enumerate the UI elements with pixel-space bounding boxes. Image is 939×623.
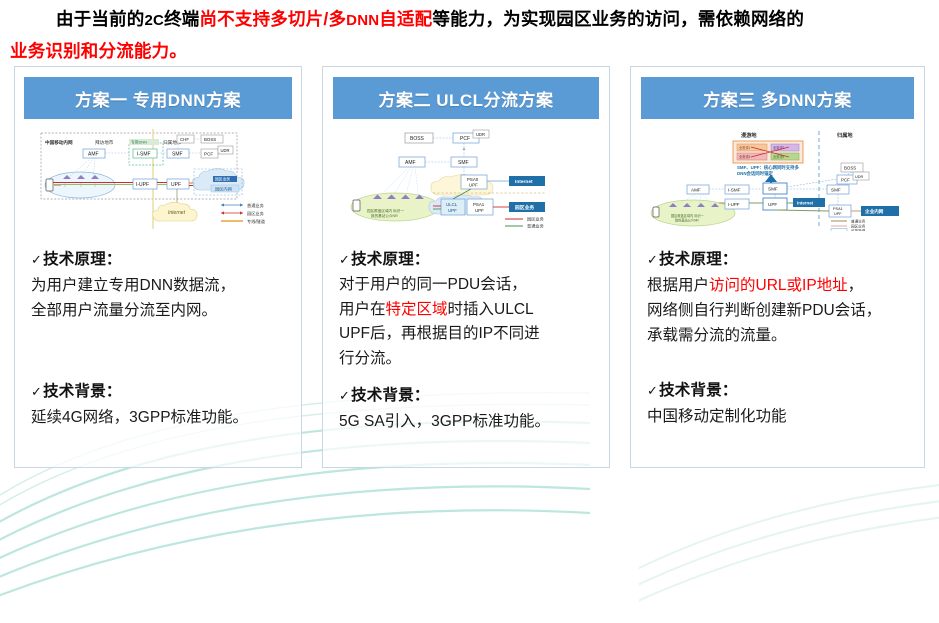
svg-text:致的基站公众NR: 致的基站公众NR <box>371 213 398 218</box>
svg-text:UPF: UPF <box>448 208 457 213</box>
svg-text:致的基站公众NR: 致的基站公众NR <box>675 218 699 223</box>
svg-text:SMF: SMF <box>458 160 469 166</box>
svg-text:I-SMF: I-SMF <box>137 151 151 157</box>
headline-seg-a: 由于当前的 <box>56 9 145 29</box>
svg-text:UPF: UPF <box>469 183 478 188</box>
svg-text:业务流3: 业务流3 <box>739 154 751 159</box>
svg-text:SMF: SMF <box>831 187 841 192</box>
multi-dnn-architecture-diagram: 漫游地 归属地 业务流1 业务流2 业务流3 业务流4 SMF、UPF：核心网同… <box>641 127 914 231</box>
svg-text:BOSS: BOSS <box>410 136 425 142</box>
svg-text:专用DNN: 专用DNN <box>131 140 147 145</box>
card-1-body: ✓技术原理： 为用户建立专用DNN数据流， 全部用户流量分流至内网。 ✓技术背景… <box>15 231 301 430</box>
headline-seg-c: 终端 <box>164 9 199 29</box>
svg-text:企业内网: 企业内网 <box>864 208 884 215</box>
svg-text:PSA1: PSA1 <box>473 202 485 207</box>
svg-text:UDR: UDR <box>855 175 863 179</box>
headline-seg-red-a: 尚不支持多切片/多 <box>199 9 346 29</box>
svg-text:UDR: UDR <box>476 132 485 137</box>
solution-card-3[interactable]: 方案三 多DNN方案 漫游地 归属地 业务流1 业务流2 业务流3 业务流4 S… <box>630 66 925 468</box>
card-1-principle-label: ✓技术原理： <box>31 247 287 269</box>
svg-text:园区业务: 园区业务 <box>527 216 545 223</box>
ulcl-offload-architecture-diagram: BOSS PCF UDR AMF SMF PSA0 UPF <box>333 127 599 231</box>
card-1-background-label: ✓技术背景： <box>31 379 287 401</box>
card-1-principle-text: 为用户建立专用DNN数据流， 全部用户流量分流至内网。 <box>31 273 287 323</box>
card-2-principle-text: 对于用户的同一PDU会话， 用户在特定区域时插入ULCL UPF后，再根据目的I… <box>339 273 595 371</box>
dedicated-dnn-architecture-diagram: 中国移动内网 拜访地市 归属地市 专用DNN AMF I-SMF SMF CHF… <box>25 127 291 231</box>
card-1-background-text: 延续4G网络，3GPP标准功能。 <box>31 405 287 430</box>
principle-line-3: UPF后，再根据目的IP不同进 <box>339 322 595 347</box>
svg-text:PCF: PCF <box>460 136 470 142</box>
card-2-principle-label: ✓技术原理： <box>339 247 595 269</box>
svg-text:业务流4: 业务流4 <box>773 154 785 159</box>
highlight-text: 访问的URL或IP地址 <box>709 277 848 294</box>
headline-seg-d: 等能力，为实现园区业务的访问，需依赖网络的 <box>432 9 804 29</box>
svg-text:普通业务: 普通业务 <box>527 223 545 230</box>
card-2-background-label: ✓技术背景： <box>339 383 595 405</box>
svg-text:UPF: UPF <box>768 202 777 207</box>
svg-text:归属地: 归属地 <box>837 131 853 139</box>
svg-text:ULCL: ULCL <box>446 202 458 207</box>
headline-seg-2c: 2C <box>145 12 165 29</box>
principle-line-1: 根据用户访问的URL或IP地址， <box>647 273 910 298</box>
principle-line-4: 行分流。 <box>339 347 595 372</box>
svg-text:园区覆盖区域内 标识一: 园区覆盖区域内 标识一 <box>367 208 404 213</box>
svg-text:园区内网: 园区内网 <box>215 185 232 192</box>
svg-text:园区业务: 园区业务 <box>515 204 534 211</box>
headline-seg-period: 。 <box>169 41 187 61</box>
svg-text:普通业务: 普通业务 <box>851 219 866 224</box>
card-3-principle-text: 根据用户访问的URL或IP地址， 网络侧自行判断创建新PDU会话， 承载需分流的… <box>647 273 910 348</box>
card-3-gap <box>647 348 910 368</box>
svg-text:UPF: UPF <box>475 208 484 213</box>
check-icon: ✓ <box>647 383 658 398</box>
svg-text:中国移动内网: 中国移动内网 <box>45 139 73 146</box>
solution-cards-container: 方案一 专用DNN方案 中国移动内网 拜访地市 归属地市 专用DNN AMF I… <box>0 66 939 476</box>
slide-headline: 由于当前的2C终端尚不支持多切片/多DNN自适配等能力，为实现园区业务的访问，需… <box>0 4 939 66</box>
check-icon: ✓ <box>339 252 350 267</box>
highlight-text: 特定区域 <box>386 301 448 318</box>
svg-text:园区业务: 园区业务 <box>247 210 265 217</box>
svg-text:UPF: UPF <box>171 182 181 188</box>
svg-text:漫游地: 漫游地 <box>741 131 757 139</box>
headline-seg-red-c: 自适配 <box>379 9 432 29</box>
svg-text:BOSS: BOSS <box>844 165 856 170</box>
check-icon: ✓ <box>339 388 350 403</box>
principle-line-1: 对于用户的同一PDU会话， <box>339 273 595 298</box>
card-3-header: 方案三 多DNN方案 <box>641 77 914 119</box>
svg-text:业务流1: 业务流1 <box>739 145 751 150</box>
principle-line-2: 用户在特定区域时插入ULCL <box>339 298 595 323</box>
svg-text:PCF: PCF <box>841 177 850 182</box>
svg-text:AMF: AMF <box>691 187 701 192</box>
svg-text:PSA1: PSA1 <box>833 207 843 211</box>
svg-text:I-SMF: I-SMF <box>728 187 741 192</box>
headline-seg-red-dnn: DNN <box>346 12 379 29</box>
card-1-title: 方案一 专用DNN方案 <box>75 86 241 111</box>
svg-text:CHF: CHF <box>180 137 189 142</box>
svg-text:DNN会话同时锚定: DNN会话同时锚定 <box>737 170 773 177</box>
card-3-background-label: ✓技术背景： <box>647 378 910 400</box>
card-3-background-text: 中国移动定制化功能 <box>647 404 910 429</box>
svg-text:专线/隧道: 专线/隧道 <box>247 218 266 225</box>
headline-line-1: 由于当前的2C终端尚不支持多切片/多DNN自适配等能力，为实现园区业务的访问，需… <box>0 4 939 36</box>
card-3-body: ✓技术原理： 根据用户访问的URL或IP地址， 网络侧自行判断创建新PDU会话，… <box>631 231 924 429</box>
check-icon: ✓ <box>647 252 658 267</box>
card-2-body: ✓技术原理： 对于用户的同一PDU会话， 用户在特定区域时插入ULCL UPF后… <box>323 231 609 434</box>
svg-text:SMF: SMF <box>768 187 778 192</box>
card-3-figure: 漫游地 归属地 业务流1 业务流2 业务流3 业务流4 SMF、UPF：核心网同… <box>641 127 914 231</box>
svg-text:AMF: AMF <box>405 160 416 166</box>
svg-text:AMF: AMF <box>88 151 99 157</box>
svg-text:SMF: SMF <box>172 151 183 157</box>
svg-text:PCF: PCF <box>204 151 213 156</box>
card-1-header: 方案一 专用DNN方案 <box>24 77 292 119</box>
svg-text:Internet: Internet <box>515 179 533 185</box>
headline-seg-red-line2: 业务识别和分流能力 <box>10 41 169 61</box>
card-2-title: 方案二 ULCL分流方案 <box>378 86 553 111</box>
svg-text:拜访地市: 拜访地市 <box>95 139 114 146</box>
svg-text:PSA0: PSA0 <box>467 177 479 182</box>
svg-text:UPF: UPF <box>834 212 842 216</box>
headline-line-2: 业务识别和分流能力。 <box>0 36 939 66</box>
solution-card-1[interactable]: 方案一 专用DNN方案 中国移动内网 拜访地市 归属地市 专用DNN AMF I… <box>14 66 302 468</box>
svg-text:园区业务: 园区业务 <box>215 177 230 182</box>
card-3-principle-label: ✓技术原理： <box>647 247 910 269</box>
principle-line-2: 网络侧自行判断创建新PDU会话， <box>647 298 910 323</box>
svg-text:BOSS: BOSS <box>204 137 216 142</box>
card-2-figure: BOSS PCF UDR AMF SMF PSA0 UPF <box>333 127 599 231</box>
svg-text:Internet: Internet <box>168 210 186 216</box>
svg-text:普通业务: 普通业务 <box>247 202 265 209</box>
svg-text:I-UPF: I-UPF <box>728 202 740 207</box>
svg-text:可能新增: 可能新增 <box>851 228 866 231</box>
check-icon: ✓ <box>31 384 42 399</box>
check-icon: ✓ <box>31 252 42 267</box>
card-1-gap <box>31 323 287 369</box>
svg-text:园区覆盖区域内 标识一: 园区覆盖区域内 标识一 <box>671 213 705 218</box>
solution-card-2[interactable]: 方案二 ULCL分流方案 BOSS PCF UDR AMF SMF <box>322 66 610 468</box>
card-1-figure: 中国移动内网 拜访地市 归属地市 专用DNN AMF I-SMF SMF CHF… <box>25 127 291 231</box>
principle-line-3: 承载需分流的流量。 <box>647 323 910 348</box>
card-3-title: 方案三 多DNN方案 <box>703 86 852 111</box>
card-2-background-text: 5G SA引入，3GPP标准功能。 <box>339 409 595 434</box>
svg-text:I-UPF: I-UPF <box>136 182 149 188</box>
card-2-gap <box>339 371 595 373</box>
card-2-header: 方案二 ULCL分流方案 <box>333 77 599 119</box>
svg-text:Internet: Internet <box>797 201 814 206</box>
svg-text:SMF、UPF：核心网同时支持多: SMF、UPF：核心网同时支持多 <box>737 164 800 171</box>
svg-text:UDR: UDR <box>221 148 230 153</box>
